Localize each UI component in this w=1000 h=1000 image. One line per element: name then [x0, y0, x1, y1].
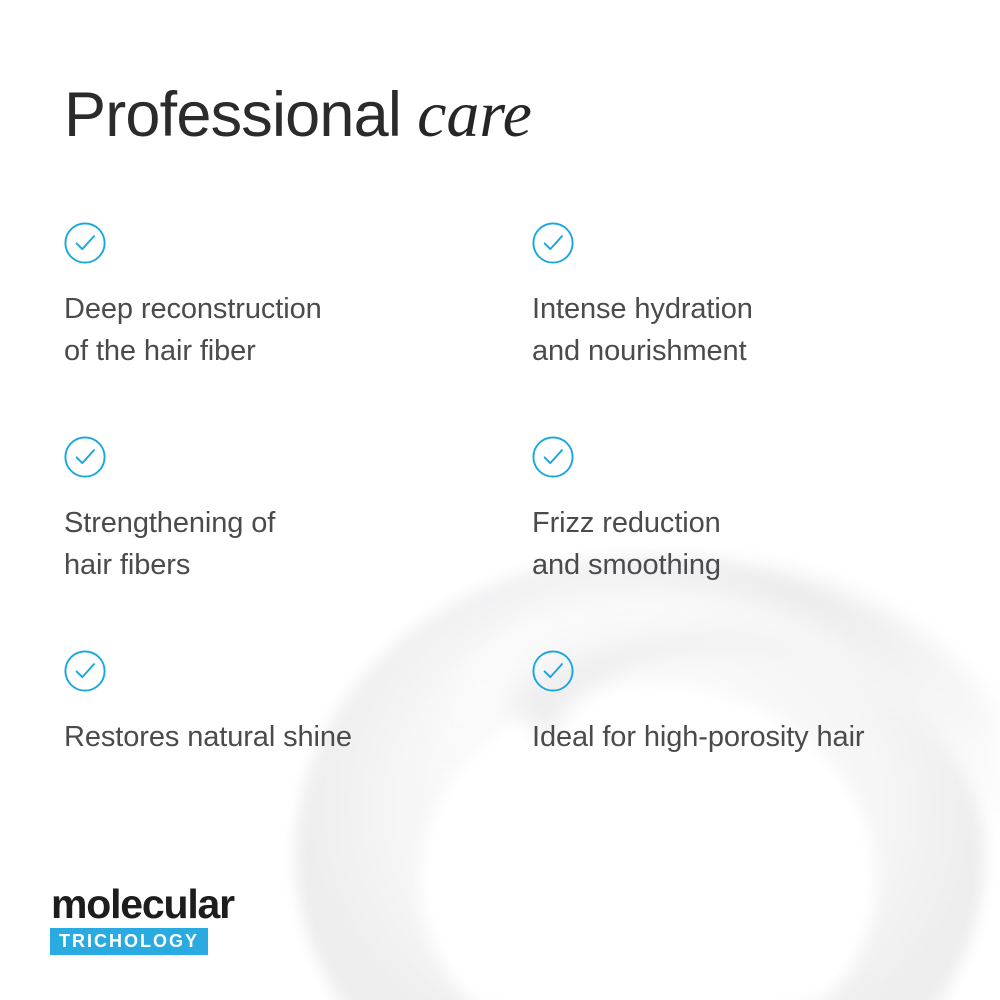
benefit-label: Frizz reduction and smoothing	[532, 502, 944, 586]
check-circle-icon	[64, 650, 106, 692]
benefit-item: Strengthening of hair fibers	[64, 436, 532, 650]
benefit-item: Frizz reduction and smoothing	[532, 436, 944, 650]
brand-logo-bar: TRICHOLOGY	[50, 928, 208, 955]
brand-logo-wordmark: molecular	[50, 884, 234, 924]
benefit-item: Ideal for high-porosity hair	[532, 650, 944, 864]
benefits-grid: Deep reconstruction of the hair fiber In…	[64, 222, 944, 864]
check-circle-icon	[532, 650, 574, 692]
check-circle-icon	[64, 222, 106, 264]
benefit-label: Ideal for high-porosity hair	[532, 716, 944, 758]
benefit-item: Deep reconstruction of the hair fiber	[64, 222, 532, 436]
brand-logo: molecular TRICHOLOGY	[50, 884, 234, 955]
brand-logo-subtitle: TRICHOLOGY	[59, 932, 199, 950]
benefit-label: Restores natural shine	[64, 716, 532, 758]
benefit-label: Strengthening of hair fibers	[64, 502, 532, 586]
benefit-item: Intense hydration and nourishment	[532, 222, 944, 436]
benefit-item: Restores natural shine	[64, 650, 532, 864]
poster-canvas: Professionalcare Deep reconstruction of …	[0, 0, 1000, 1000]
benefit-label: Intense hydration and nourishment	[532, 288, 944, 372]
page-title: Professionalcare	[64, 82, 532, 148]
check-circle-icon	[532, 436, 574, 478]
page-title-main: Professional	[64, 80, 401, 150]
check-circle-icon	[64, 436, 106, 478]
page-title-accent: care	[417, 78, 532, 151]
benefit-label: Deep reconstruction of the hair fiber	[64, 288, 532, 372]
check-circle-icon	[532, 222, 574, 264]
